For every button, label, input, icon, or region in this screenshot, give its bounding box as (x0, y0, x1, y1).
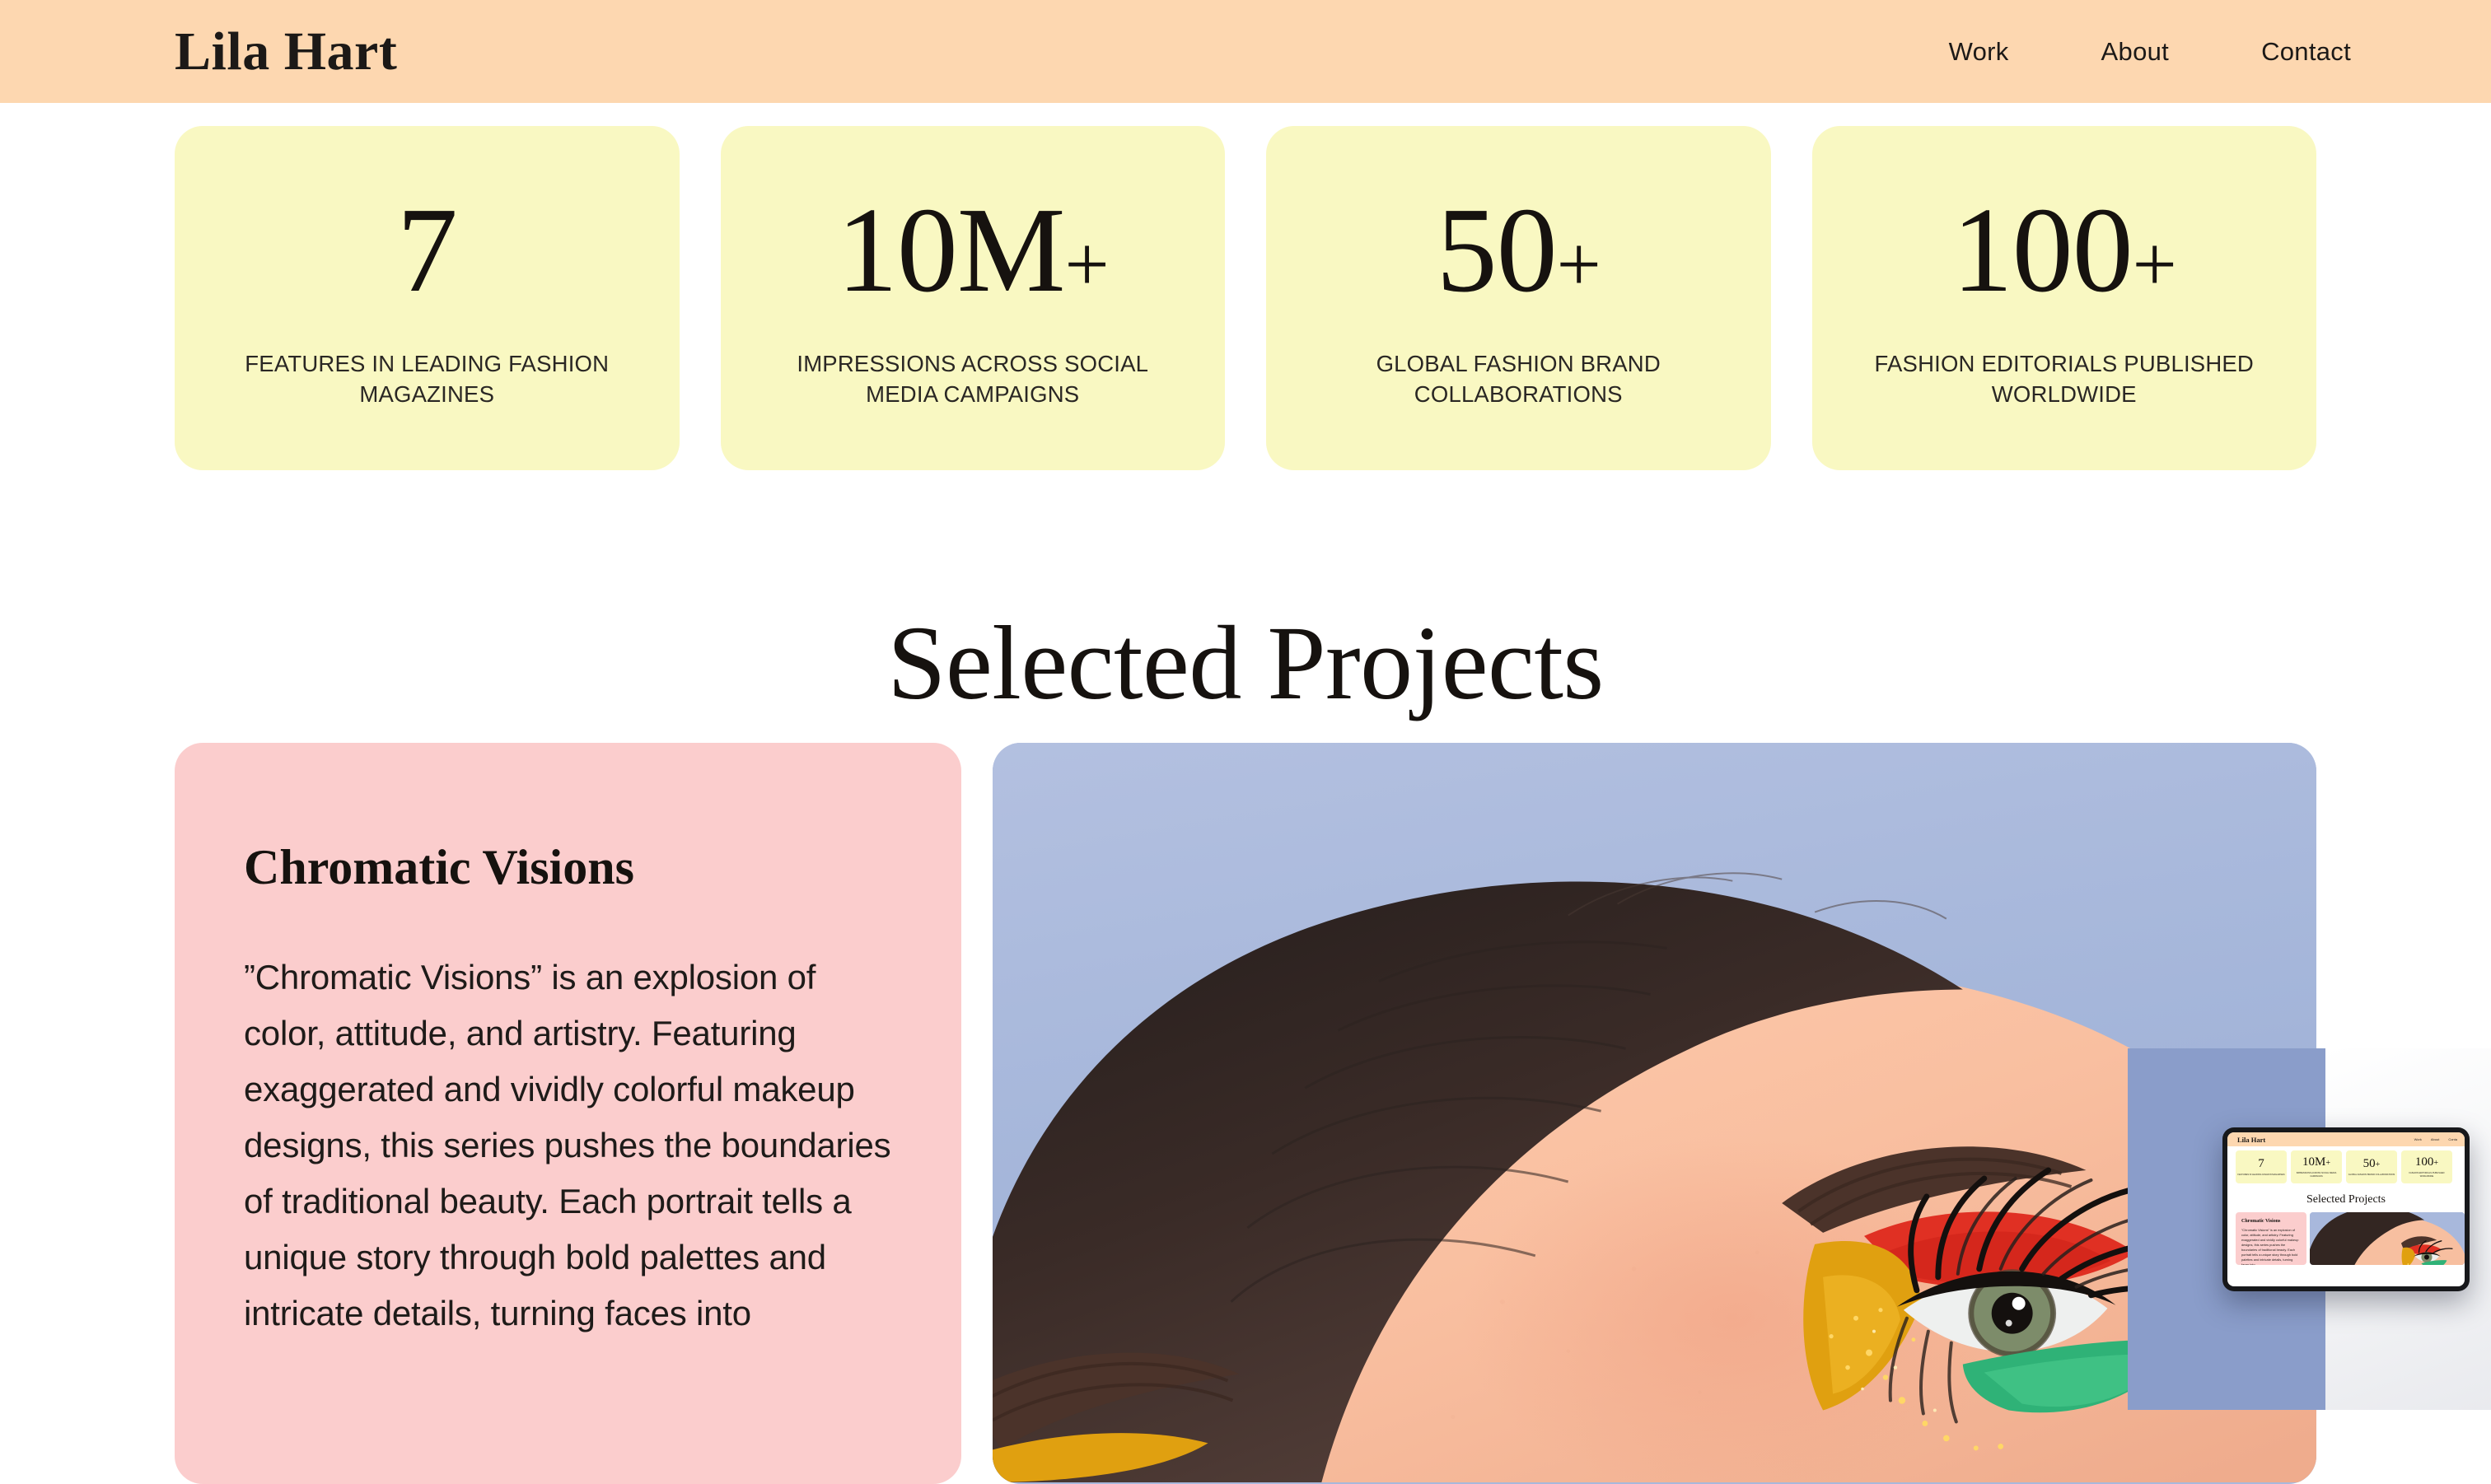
main-navigation: Work About Contact (1949, 37, 2351, 67)
nav-link-contact[interactable]: Contact (2261, 37, 2351, 67)
section-title: Selected Projects (0, 605, 2491, 721)
mini-stat-card: 50+ GLOBAL FASHION BRAND COLLABORATIONS (2346, 1150, 2397, 1183)
stat-label: GLOBAL FASHION BRAND COLLABORATIONS (1325, 348, 1712, 411)
project-description: ”Chromatic Visions” is an explosion of c… (244, 950, 892, 1342)
mini-stat-value: 100+ (2415, 1156, 2438, 1169)
portrait-photo-illustration (993, 743, 2316, 1482)
mini-nav-link-work: Work (2414, 1137, 2422, 1141)
stat-card: 10M+ IMPRESSIONS ACROSS SOCIAL MEDIA CAM… (721, 126, 1226, 470)
nav-link-work[interactable]: Work (1949, 37, 2009, 67)
site-header: Lila Hart Work About Contact (0, 0, 2491, 103)
stats-row: 7 FEATURES IN LEADING FASHION MAGAZINES … (175, 126, 2316, 470)
mini-stat-value: 50+ (2363, 1158, 2381, 1170)
stat-label: FASHION EDITORIALS PUBLISHED WORLDWIDE (1871, 348, 2258, 411)
stat-value: 50+ (1437, 186, 1601, 315)
stat-card: 7 FEATURES IN LEADING FASHION MAGAZINES (175, 126, 680, 470)
mini-project-image (2310, 1212, 2465, 1265)
stat-card: 100+ FASHION EDITORIALS PUBLISHED WORLDW… (1812, 126, 2317, 470)
stat-value: 10M+ (837, 186, 1109, 315)
mini-stat-label: FASHION EDITORIALS PUBLISHED WORLDWIDE (2403, 1172, 2451, 1178)
nav-link-about[interactable]: About (2101, 37, 2170, 67)
project-showcase: Chromatic Visions ”Chromatic Visions” is… (175, 743, 2316, 1484)
mini-nav-link-contact: Conta (2448, 1137, 2457, 1141)
mini-navigation: Work About Conta (2414, 1137, 2457, 1141)
stat-card: 50+ GLOBAL FASHION BRAND COLLABORATIONS (1266, 126, 1771, 470)
project-title: Chromatic Visions (244, 840, 892, 895)
mini-portrait-illustration (2310, 1212, 2465, 1265)
project-info-card[interactable]: Chromatic Visions ”Chromatic Visions” is… (175, 743, 961, 1484)
stat-value: 100+ (1952, 186, 2176, 315)
stat-label: FEATURES IN LEADING FASHION MAGAZINES (233, 348, 620, 411)
mini-stat-label: GLOBAL FASHION BRAND COLLABORATIONS (2348, 1174, 2395, 1176)
mini-nav-link-about: About (2431, 1137, 2439, 1141)
project-image[interactable] (993, 743, 2316, 1484)
stat-label: IMPRESSIONS ACROSS SOCIAL MEDIA CAMPAIGN… (779, 348, 1166, 411)
stat-value: 7 (397, 186, 457, 315)
mini-stat-card: 100+ FASHION EDITORIALS PUBLISHED WORLDW… (2401, 1150, 2452, 1183)
device-backdrop-right (2325, 1048, 2491, 1410)
site-logo[interactable]: Lila Hart (175, 25, 397, 79)
